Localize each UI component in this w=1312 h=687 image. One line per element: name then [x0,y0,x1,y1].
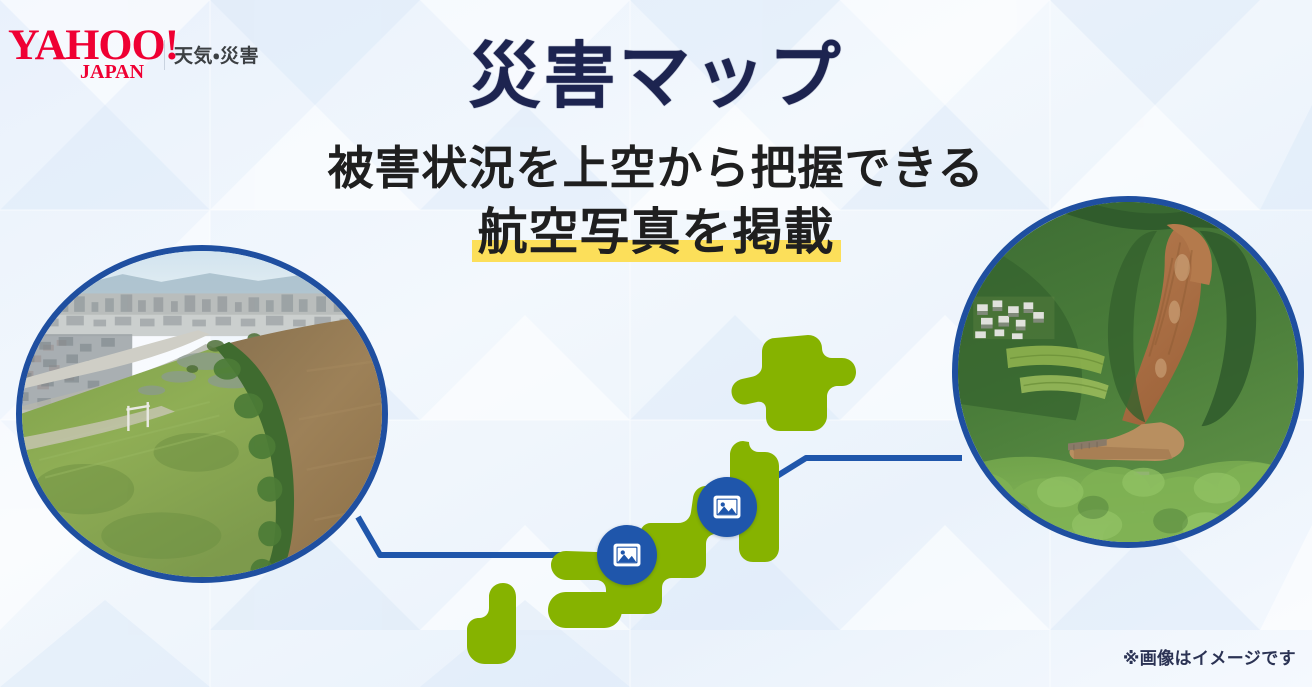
region-shikoku [548,592,622,628]
landslide-artwork [952,196,1304,548]
region-kyushu [467,583,516,664]
image-icon [610,538,644,572]
region-hokkaido [731,335,856,431]
japan-silhouette [467,335,856,664]
image-disclaimer-note: ※画像はイメージです [1123,644,1296,669]
flooded-river-artwork [16,245,388,583]
landslide-photo[interactable] [952,196,1304,548]
map-pin-east[interactable] [697,477,757,537]
flooded-river-photo[interactable] [16,245,388,583]
connector-line-left [358,517,627,555]
map-pin-west[interactable] [597,525,657,585]
image-icon [710,490,744,524]
disaster-map-banner: YAHOO! JAPAN 天気・災害 災害マップ 被害状況を上空から把握できる … [0,0,1312,687]
village-cluster [973,297,1054,340]
